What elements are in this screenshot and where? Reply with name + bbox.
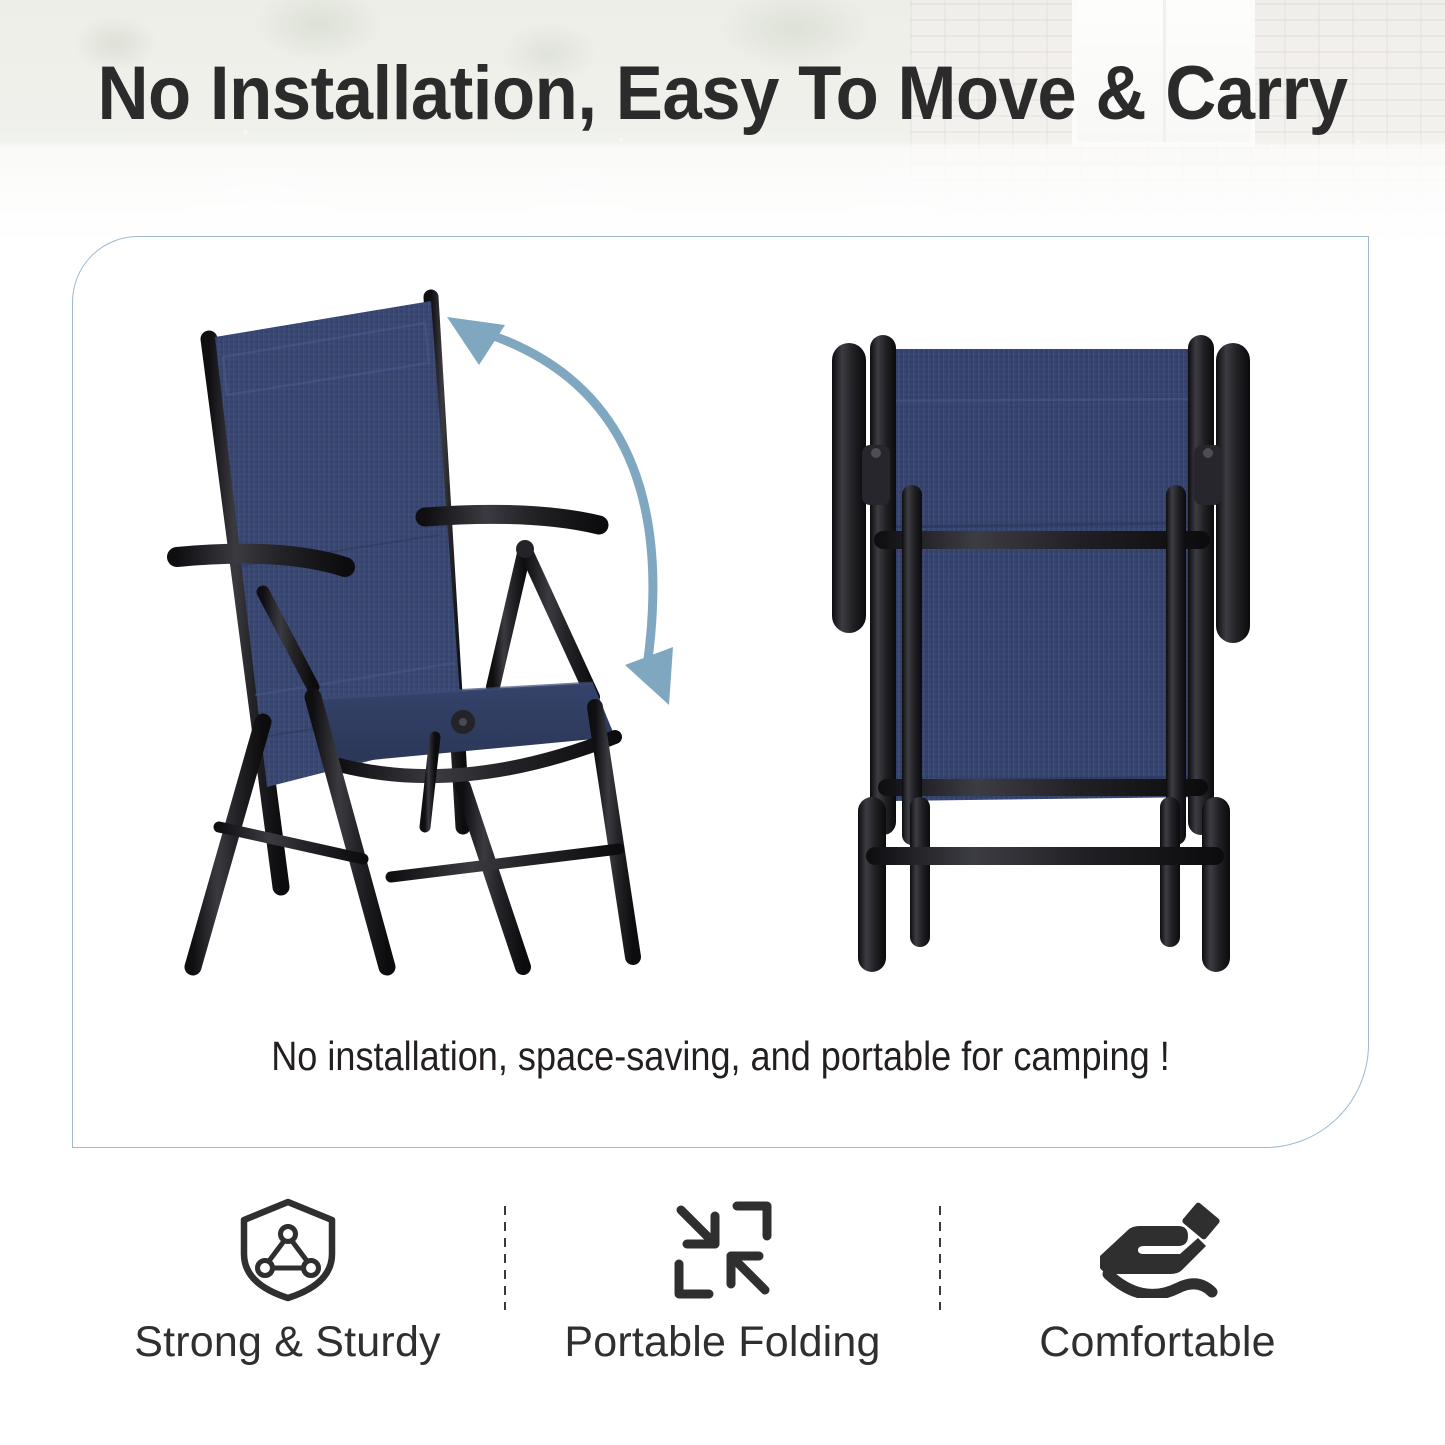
feature-highlights-row: Strong & Sturdy Portable Folding Comfort…: [0, 1196, 1445, 1396]
collapse-arrows-icon: [671, 1196, 775, 1304]
feature-label: Portable Folding: [564, 1318, 880, 1367]
product-showcase-card: No installation, space-saving, and porta…: [72, 236, 1369, 1148]
chair-illustration-stage: [73, 237, 1370, 1027]
card-caption: No installation, space-saving, and porta…: [151, 1033, 1291, 1080]
feature-label: Comfortable: [1039, 1318, 1275, 1367]
page-headline: No Installation, Easy To Move & Carry: [51, 56, 1395, 132]
folded-chair-illustration: [818, 327, 1288, 977]
fold-motion-arrow: [433, 299, 713, 719]
feature-label: Strong & Sturdy: [134, 1318, 441, 1367]
shield-icon: [236, 1196, 340, 1304]
hand-care-icon: [1094, 1196, 1222, 1304]
feature-portable-folding: Portable Folding: [506, 1196, 939, 1367]
feature-strong-sturdy: Strong & Sturdy: [71, 1196, 504, 1367]
feature-comfortable: Comfortable: [941, 1196, 1374, 1367]
